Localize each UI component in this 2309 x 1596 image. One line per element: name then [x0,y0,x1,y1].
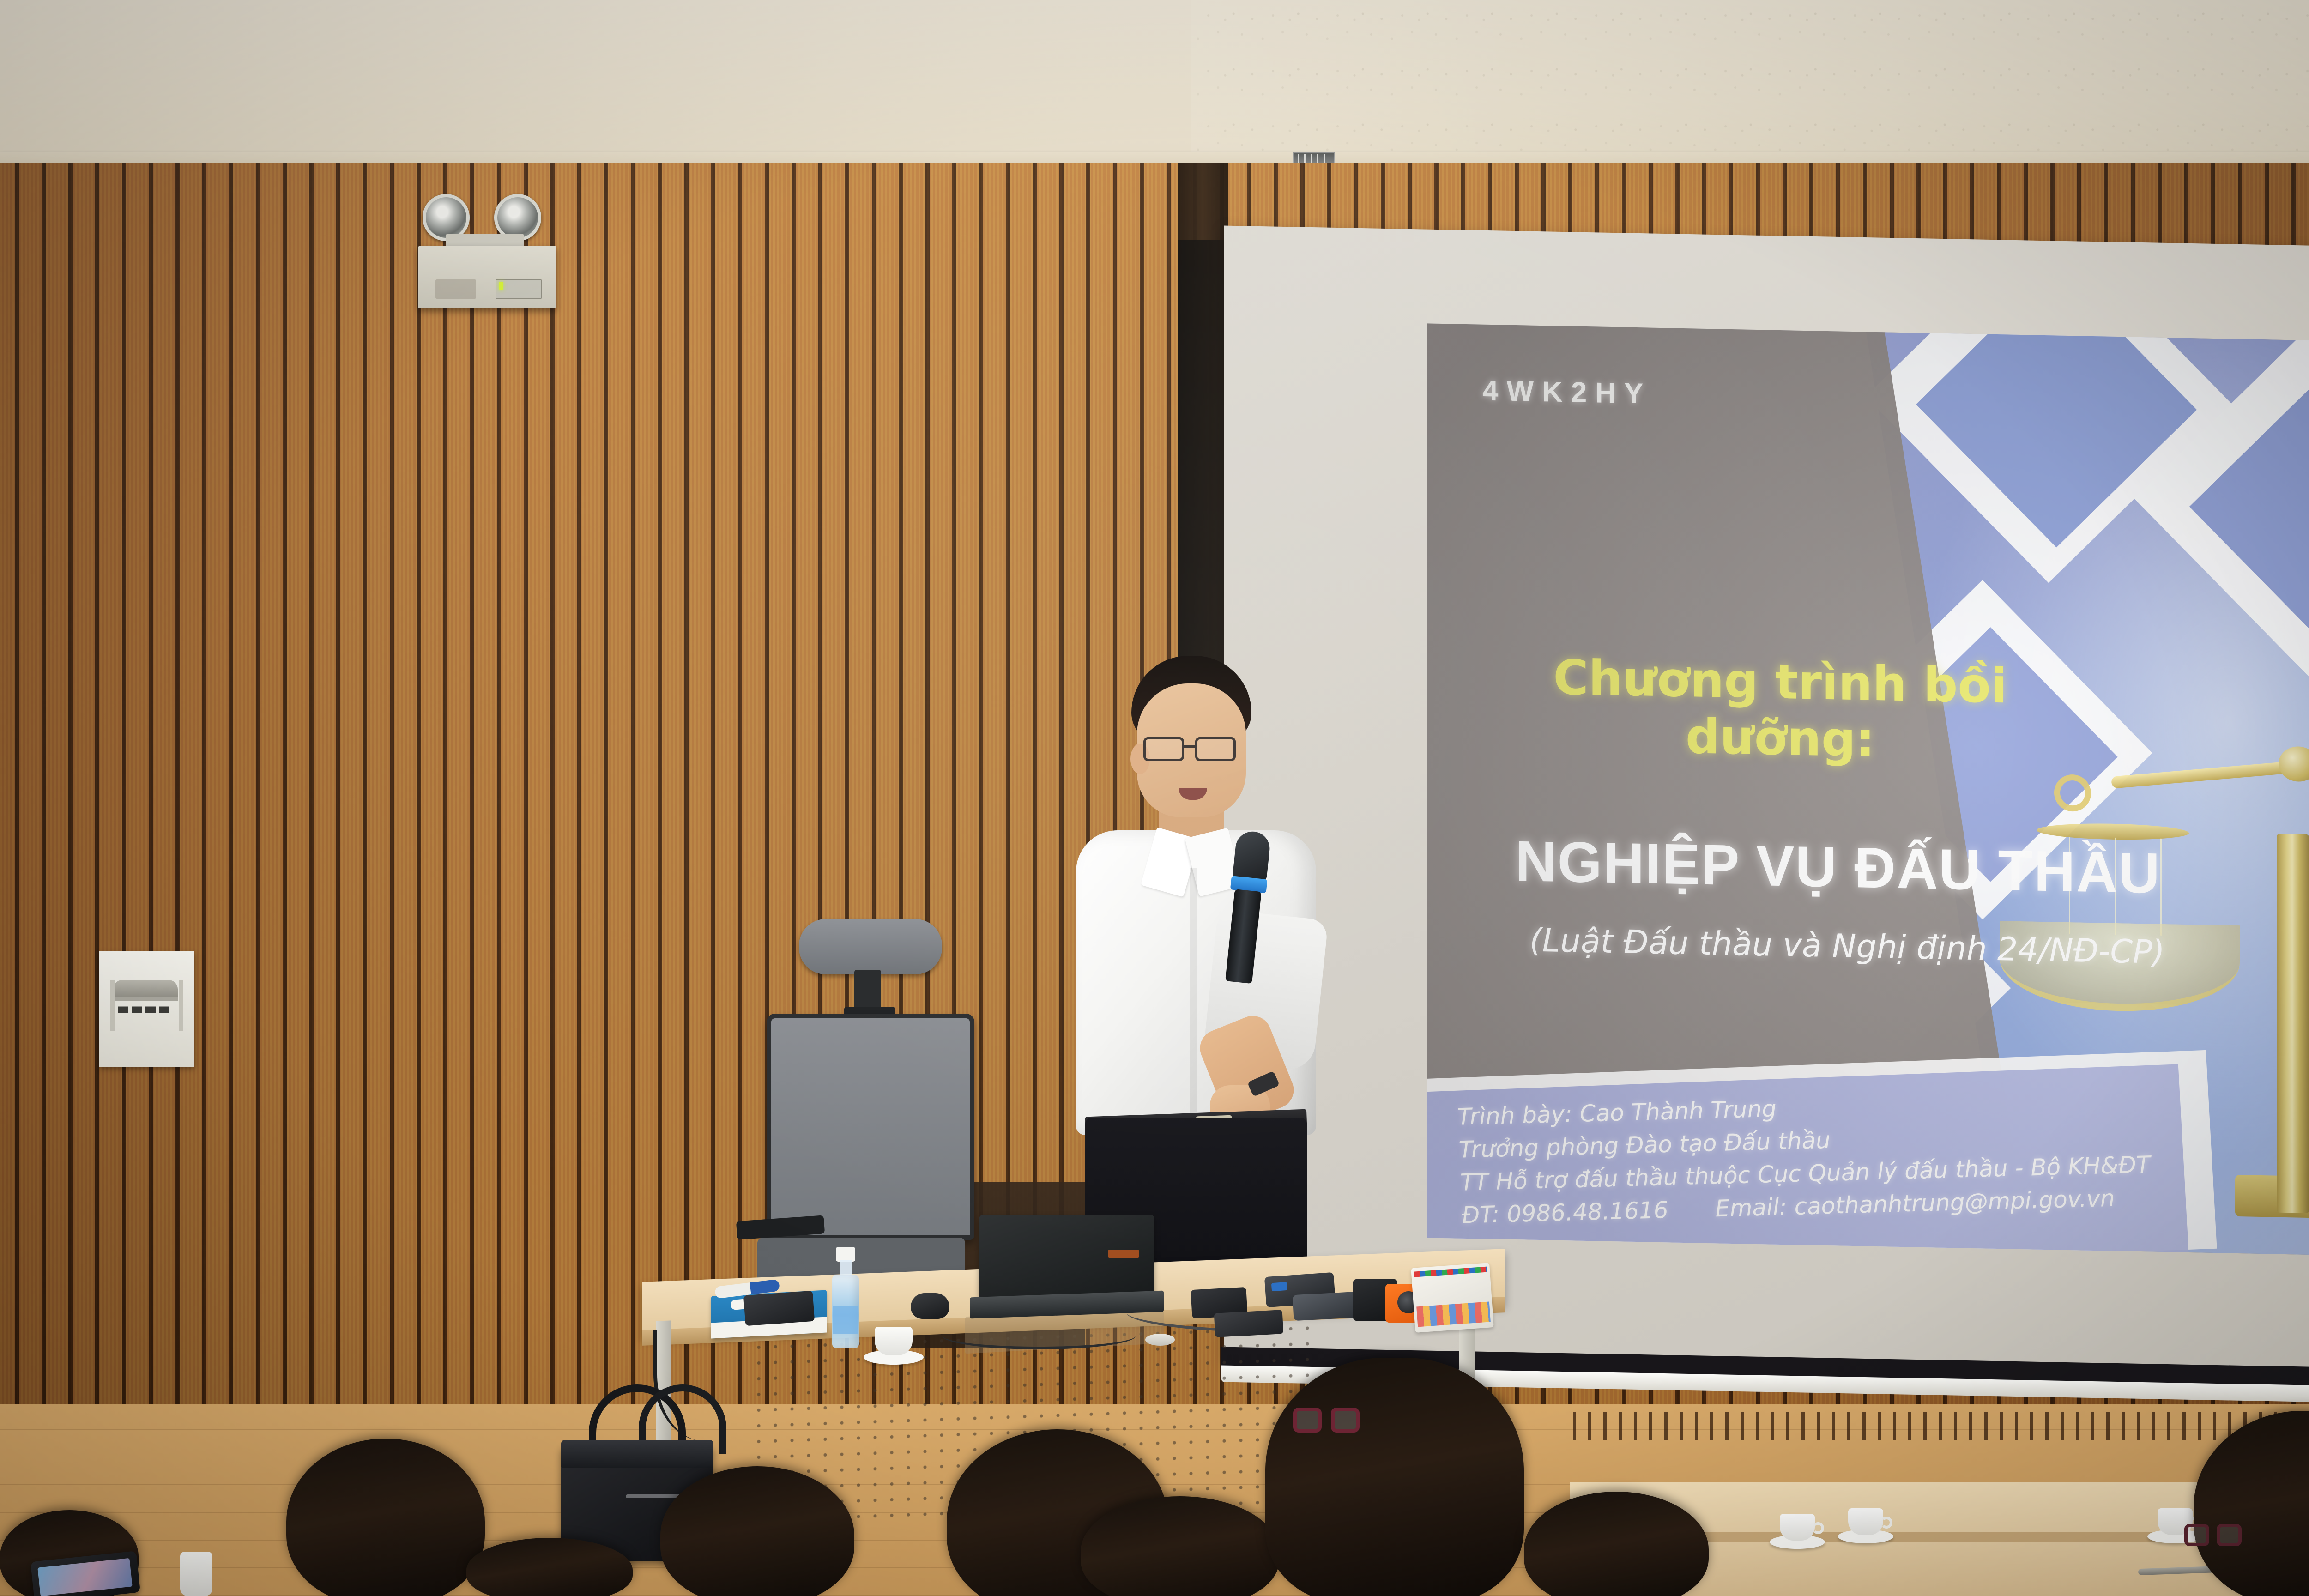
teacup-handle [1812,1522,1824,1534]
cup-body [875,1327,913,1355]
presentation-slide: 4WK2HY Chương trình bồi dưỡng: NGHIỆP VỤ… [1427,323,2309,1256]
eyeglasses-lens-left [1143,737,1184,761]
breaker-side-right [179,980,183,1031]
breaker-switch-4[interactable] [159,1001,169,1013]
attendee-head [286,1439,485,1596]
microphone-capsule [1232,830,1271,884]
chair-backrest [767,1014,974,1240]
attendee-phone-screen [37,1558,132,1596]
teacup-body [1848,1508,1883,1535]
slide-footer: Trình bày: Cao Thành Trung Trưởng phòng … [1457,1082,2154,1232]
cable-grommet [1145,1334,1175,1346]
office-chair[interactable] [739,919,979,1302]
pack-stripe-top [1414,1267,1487,1277]
scales-hanger [2037,822,2189,841]
presenter [1058,656,1353,1312]
attendee-head [1265,1358,1524,1596]
slide-title: NGHIỆP VỤ ĐẤU THẦU [1515,828,2161,907]
attendee-cup[interactable] [180,1552,212,1596]
scales-knob [2279,746,2309,782]
breaker-switch-1[interactable] [118,1001,128,1013]
laptop-brand-logo [1108,1250,1139,1258]
emergency-light-label-plate [435,279,476,299]
status-led-icon [499,282,503,290]
handbag-flap [561,1440,713,1468]
breaker-switch-3[interactable] [145,1001,156,1013]
slide-footer-phone: ĐT: 0986.48.1616 [1461,1197,1669,1229]
slide-subtitle: Chương trình bồi dưỡng: [1496,648,2064,772]
breaker-hood [113,980,178,999]
paper-cup[interactable] [864,1318,924,1365]
clicker-button[interactable] [1271,1282,1287,1291]
water-bottle[interactable] [831,1247,860,1348]
breaker-rail [113,997,178,1001]
breaker-panel[interactable] [99,951,194,1067]
attendee-lens-left [1293,1408,1322,1433]
bottle-label [833,1306,858,1334]
attendee-lens-right [2217,1524,2242,1546]
desk-cable-1 [942,1322,1136,1349]
smartphone-left[interactable] [743,1291,815,1326]
attendee-lens-right [1331,1408,1360,1433]
chair-headrest [799,919,942,974]
slide-watermark: 4WK2HY [1482,375,1651,411]
teacup-handle [1880,1517,1892,1529]
teacup-body [1780,1514,1815,1541]
snack-pack[interactable] [1411,1263,1493,1333]
eyeglasses-bridge [1184,745,1196,748]
attendee-eyeglasses-icon [2184,1524,2244,1558]
smartphone-right-2[interactable] [1214,1310,1284,1337]
attendee-eyeglasses-icon [1293,1408,1362,1446]
teacup-2[interactable] [1838,1501,1893,1545]
breaker-side-left [110,980,115,1031]
computer-mouse[interactable] [911,1293,949,1319]
scales-post [2277,834,2309,1213]
scales-ring [2054,774,2091,812]
teacup-1[interactable] [1770,1506,1825,1551]
photo-scene: 4WK2HY Chương trình bồi dưỡng: NGHIỆP VỤ… [0,0,2309,1596]
eyeglasses-icon [1143,737,1243,763]
breaker-switch-2[interactable] [132,1001,142,1013]
microphone-body [1225,889,1262,984]
eyeglasses-lens-right [1195,737,1236,761]
emergency-light [418,194,556,314]
attendee-lens-left [2184,1524,2209,1546]
presenter-shirt-placket [1190,868,1197,1127]
pack-stripe-bottom [1416,1301,1491,1327]
attendee-head [660,1466,854,1596]
ceiling-step [0,0,1191,163]
